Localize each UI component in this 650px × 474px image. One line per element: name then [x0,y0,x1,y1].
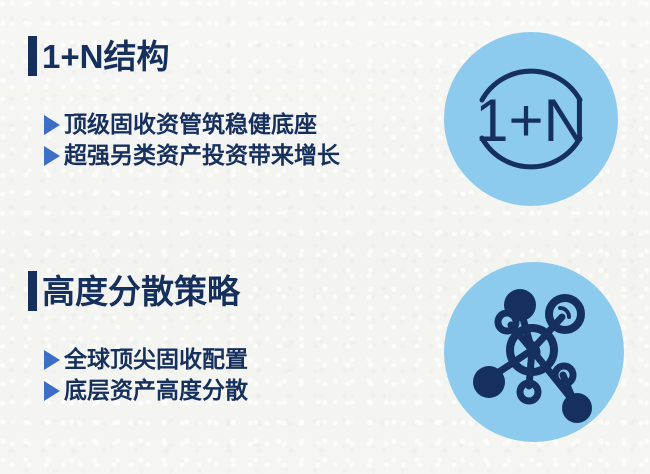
one-plus-n-glyph: 1+N [444,32,618,206]
network-nodes-glyph [444,262,624,442]
section-highly-diversified-strategy: 高度分散策略 全球顶尖固收配置 底层资产高度分散 [0,237,650,474]
network-node-ring [549,298,581,330]
section-1-bullet-list: 顶级固收资管筑稳健底座 超强另类资产投资带来增长 [44,110,340,172]
section-2-heading: 高度分散策略 [28,271,240,311]
section-2-bullet-list: 全球顶尖固收配置 底层资产高度分散 [44,345,248,407]
list-item: 顶级固收资管筑稳健底座 [44,110,340,139]
network-node-filled [473,366,505,398]
list-item-label: 顶级固收资管筑稳健底座 [64,113,317,136]
one-plus-n-circle-icon: 1+N [444,32,618,206]
section-1-heading-text: 1+N结构 [42,40,169,73]
network-node-ring [498,313,516,331]
list-item: 超强另类资产投资带来增长 [44,141,340,170]
heading-accent-bar [28,271,37,311]
triangle-bullet-icon [44,350,60,370]
network-node-filled [562,393,592,423]
list-item: 全球顶尖固收配置 [44,345,248,374]
one-plus-n-label: 1+N [475,87,587,154]
list-item-label: 底层资产高度分散 [64,379,248,402]
list-item-label: 超强另类资产投资带来增长 [64,144,340,167]
triangle-bullet-icon [44,381,60,401]
section-1-heading: 1+N结构 [28,36,169,76]
list-item-label: 全球顶尖固收配置 [64,348,248,371]
section-2-heading-text: 高度分散策略 [42,275,240,308]
heading-accent-bar [28,36,37,76]
list-item: 底层资产高度分散 [44,376,248,405]
triangle-bullet-icon [44,146,60,166]
network-nodes-icon [444,262,624,442]
triangle-bullet-icon [44,115,60,135]
infographic-page: 1+N结构 顶级固收资管筑稳健底座 超强另类资产投资带来增长 1+N [0,0,650,474]
network-node-ring [520,383,538,401]
section-one-plus-n-structure: 1+N结构 顶级固收资管筑稳健底座 超强另类资产投资带来增长 1+N [0,0,650,237]
